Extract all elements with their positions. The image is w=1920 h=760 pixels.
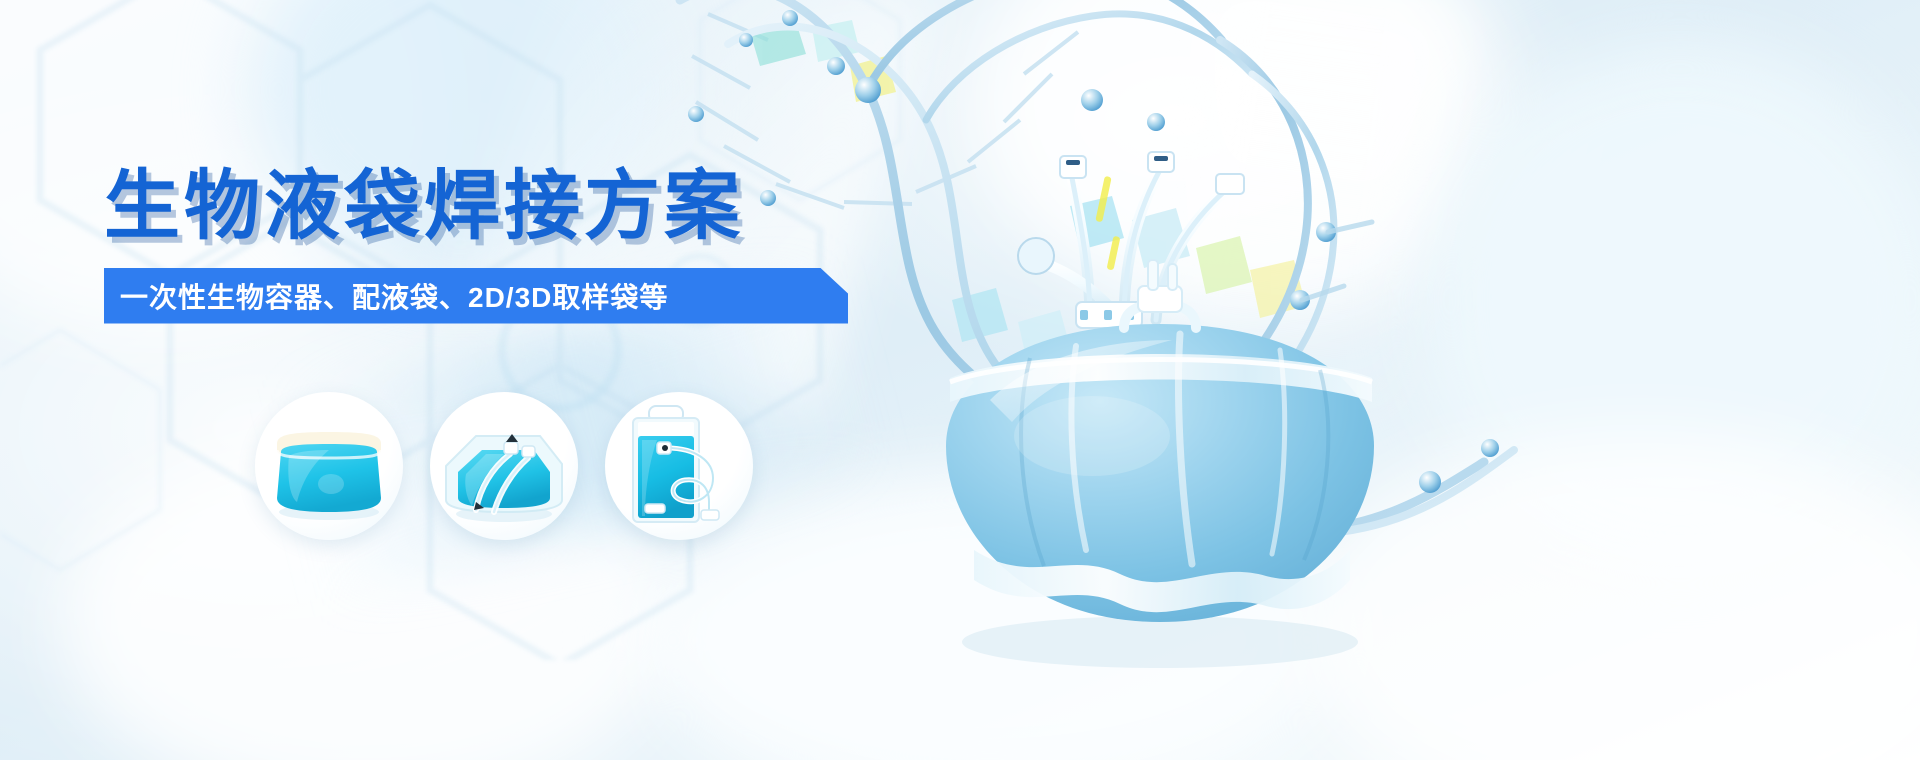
subtitle-banner: 一次性生物容器、配液袋、2D/3D取样袋等 <box>104 268 848 324</box>
background-layer <box>0 0 1920 760</box>
bioprocess-bag-graphic <box>880 250 1440 680</box>
subtitle-text: 一次性生物容器、配液袋、2D/3D取样袋等 <box>104 276 668 316</box>
thumbnail-3d-sampling-bag[interactable] <box>430 392 578 540</box>
thumbnail-2d-liquid-bag[interactable] <box>255 392 403 540</box>
product-thumbnail-row <box>255 392 753 540</box>
hero-banner: 生物液袋焊接方案 一次性生物容器、配液袋、2D/3D取样袋等 <box>0 0 1920 760</box>
thumbnail-tubing-sample-bag[interactable] <box>605 392 753 540</box>
headline-block: 生物液袋焊接方案 一次性生物容器、配液袋、2D/3D取样袋等 <box>104 168 848 324</box>
tubing-manifold-graphic <box>1020 70 1350 340</box>
hexagon-lattice-decoration <box>0 0 1050 660</box>
page-title: 生物液袋焊接方案 <box>104 168 848 246</box>
